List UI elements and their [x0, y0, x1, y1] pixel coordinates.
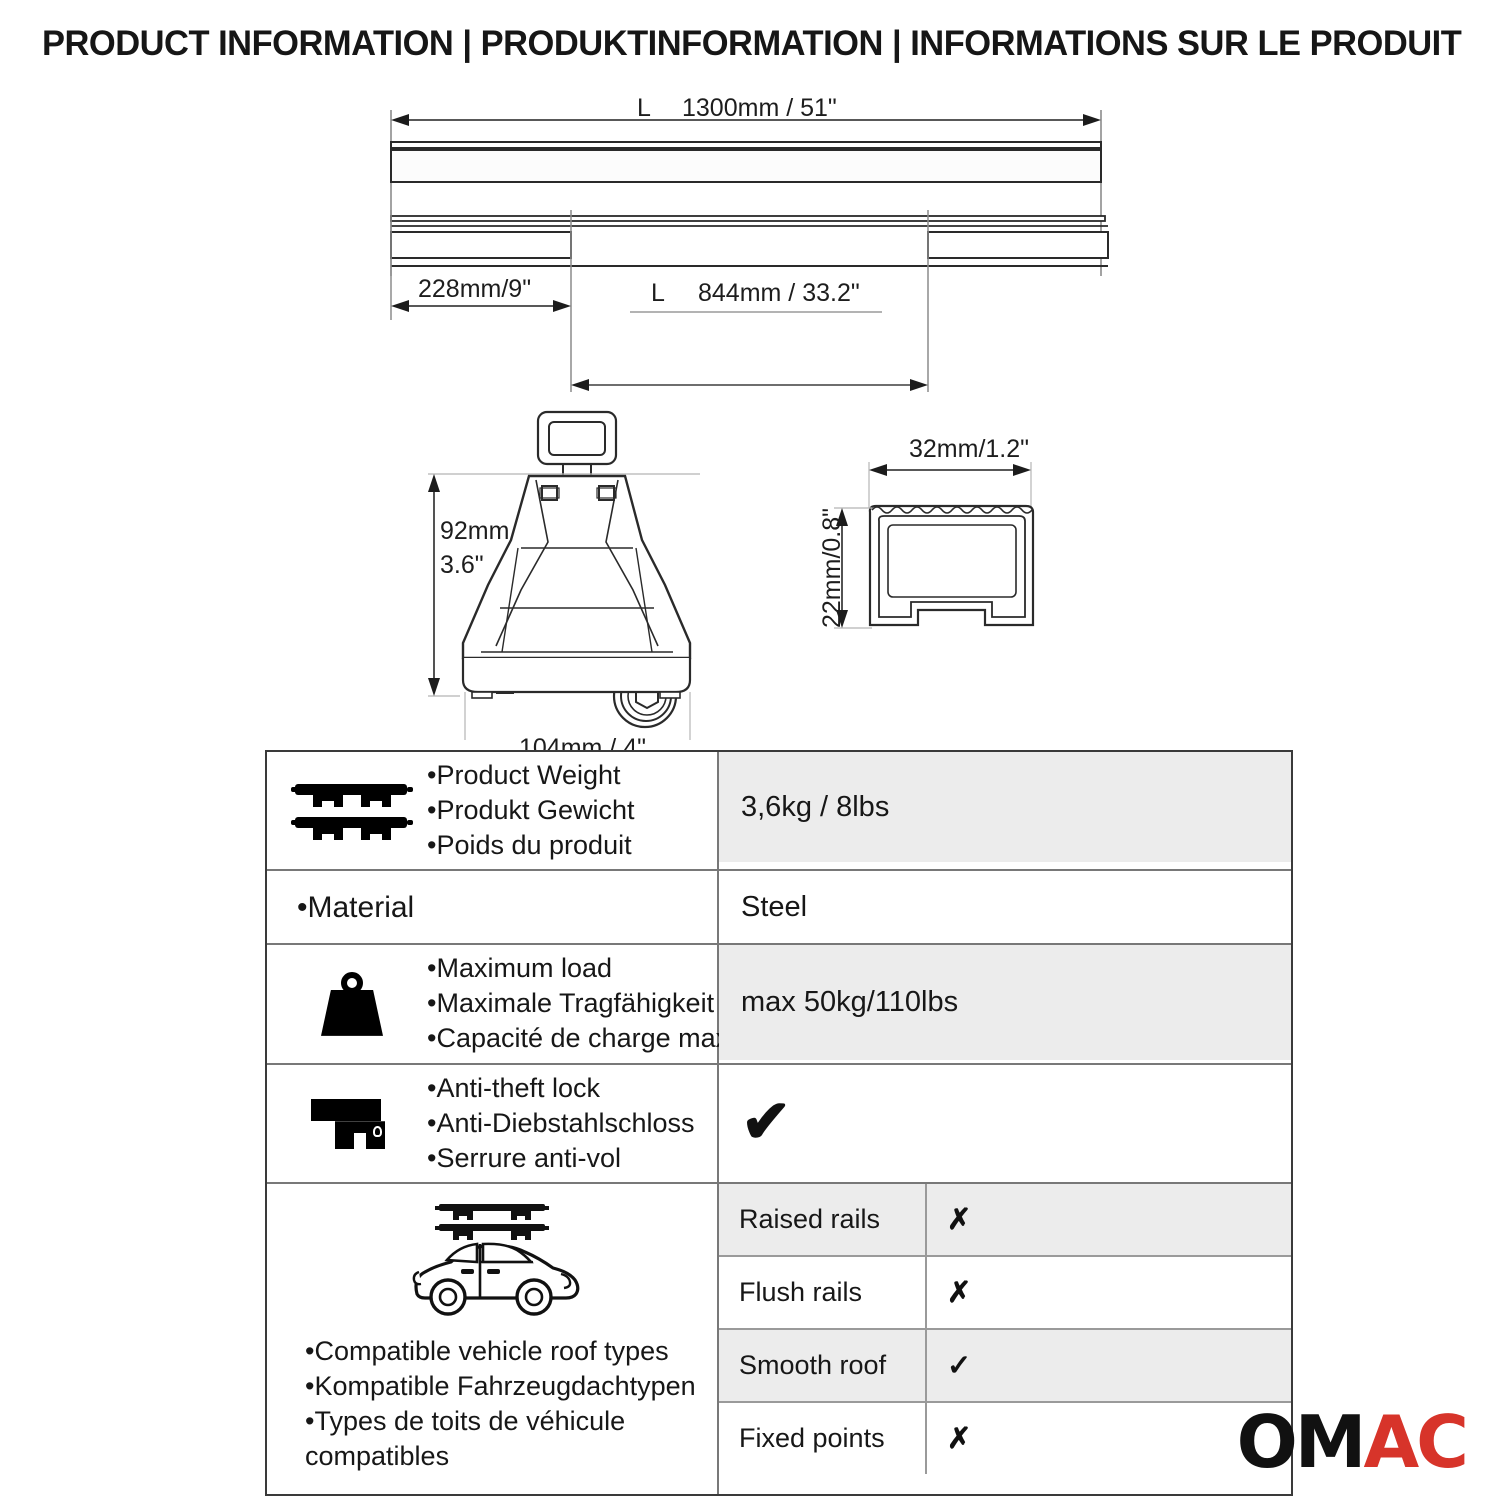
row-label-text-group: •Product Weight •Produkt Gewicht •Poids … — [427, 758, 635, 863]
label-line: •Kompatible Fahrzeugdachtypen — [305, 1369, 696, 1404]
roof-type-name: Flush rails — [719, 1257, 927, 1328]
label-line: •Produkt Gewicht — [427, 793, 635, 828]
weight-icon — [277, 972, 427, 1036]
row-label-text-group: •Compatible vehicle roof types •Kompatib… — [305, 1334, 696, 1474]
crossbars-icon — [277, 780, 427, 842]
technical-drawing: L 1300mm / 51" — [0, 80, 1500, 740]
label-line: •Serrure anti-vol — [427, 1141, 695, 1176]
roof-type-mark-cell: ✗ — [927, 1257, 1291, 1328]
roof-type-row-flush-rails: Flush rails ✗ — [719, 1257, 1291, 1330]
roof-type-row-smooth-roof: Smooth roof ✓ — [719, 1330, 1291, 1403]
row-label-product-weight: •Product Weight •Produkt Gewicht •Poids … — [267, 752, 719, 869]
row-value-anti-theft-lock: ✔ — [719, 1065, 1291, 1180]
label-line: compatibles — [305, 1439, 696, 1474]
foot-height-line2: 3.6" — [440, 551, 484, 580]
row-label-text-group: •Anti-theft lock •Anti-Diebstahlschloss … — [427, 1071, 695, 1176]
profile-height-label: 22mm/0.8" — [818, 508, 847, 628]
cross-icon: ✗ — [947, 1275, 971, 1310]
page-title: PRODUCT INFORMATION | PRODUKTINFORMATION… — [42, 24, 1441, 64]
roof-type-mark-cell: ✗ — [927, 1184, 1291, 1255]
lock-bar — [311, 1099, 381, 1117]
table-row: •Anti-theft lock •Anti-Diebstahlschloss … — [267, 1065, 1291, 1184]
label-line: •Poids du produit — [427, 828, 635, 863]
roof-type-row-fixed-points: Fixed points ✗ — [719, 1403, 1291, 1474]
label-line: •Compatible vehicle roof types — [305, 1334, 696, 1369]
table-row: •Maximum load •Maximale Tragfähigkeit •C… — [267, 945, 1291, 1064]
lock-icon — [277, 1095, 427, 1151]
car-with-roof-rack-icon — [403, 1198, 581, 1320]
profile-width-label: 32mm/1.2" — [909, 435, 1029, 464]
roof-type-mark-cell: ✓ — [927, 1330, 1291, 1401]
logo-text-dark: OM — [1237, 1400, 1364, 1484]
table-row: •Product Weight •Produkt Gewicht •Poids … — [267, 752, 1291, 871]
label-line: •Anti-theft lock — [427, 1071, 695, 1106]
weight-body — [321, 990, 383, 1036]
keyhole-icon — [373, 1126, 382, 1137]
cross-icon: ✗ — [947, 1421, 971, 1456]
product-spec-table: •Product Weight •Produkt Gewicht •Poids … — [265, 750, 1293, 1496]
roof-type-name: Raised rails — [719, 1184, 927, 1255]
roof-type-name: Smooth roof — [719, 1330, 927, 1401]
label-line: •Types de toits de véhicule — [305, 1404, 696, 1439]
lock-bar-edge — [311, 1117, 381, 1121]
table-row: •Material Steel — [267, 871, 1291, 945]
row-label-compatible-roof-types: •Compatible vehicle roof types •Kompatib… — [267, 1184, 719, 1494]
bar-span-prefix: L — [651, 279, 665, 308]
foot-offset-label: 228mm/9" — [418, 275, 531, 304]
cross-icon: ✗ — [947, 1202, 971, 1237]
label-line: •Anti-Diebstahlschloss — [427, 1106, 695, 1141]
row-value-product-weight: 3,6kg / 8lbs — [719, 752, 1291, 862]
row-label-maximum-load: •Maximum load •Maximale Tragfähigkeit •C… — [267, 945, 719, 1062]
omac-logo: OMAC — [1237, 1406, 1466, 1478]
row-value-maximum-load: max 50kg/110lbs — [719, 945, 1291, 1060]
drawing-svg — [0, 80, 1500, 740]
row-label-material: •Material — [267, 871, 719, 943]
check-icon: ✔ — [741, 1092, 791, 1152]
label-line: •Material — [297, 888, 414, 927]
row-value-material: Steel — [719, 871, 1291, 943]
roof-type-name: Fixed points — [719, 1403, 927, 1474]
bar-span-value: 844mm / 33.2" — [698, 279, 860, 308]
roof-type-options: Raised rails ✗ Flush rails ✗ Smooth roof… — [719, 1184, 1291, 1494]
roof-type-row-raised-rails: Raised rails ✗ — [719, 1184, 1291, 1257]
foot-height-line1: 92mm — [440, 517, 509, 546]
label-line: •Product Weight — [427, 758, 635, 793]
table-row-compatibility: •Compatible vehicle roof types •Kompatib… — [267, 1184, 1291, 1494]
row-label-text-group: •Material — [297, 888, 414, 927]
check-icon: ✓ — [947, 1348, 971, 1383]
logo-text-red: AC — [1363, 1400, 1466, 1484]
row-label-anti-theft-lock: •Anti-theft lock •Anti-Diebstahlschloss … — [267, 1065, 719, 1182]
